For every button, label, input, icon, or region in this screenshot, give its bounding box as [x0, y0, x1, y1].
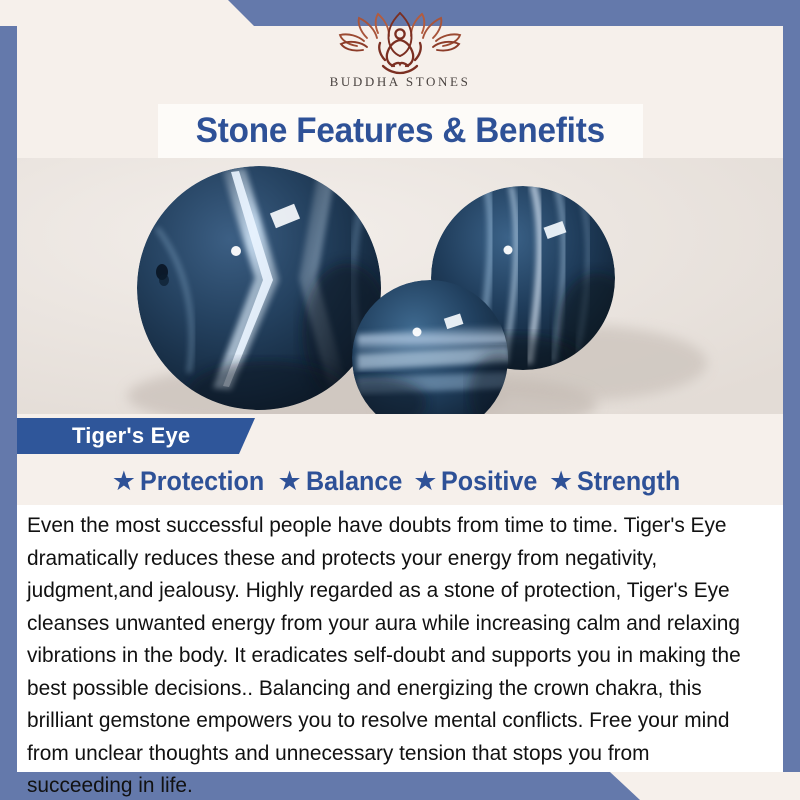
infographic-page: BUDDHA STONES Stone Features & Benefits: [0, 0, 800, 800]
frame-right-band: [783, 0, 800, 800]
benefits-row: ★ Protection ★ Balance ★ Positive ★ Stre…: [17, 462, 783, 500]
star-icon: ★: [277, 468, 301, 495]
benefit-label: Positive: [441, 466, 537, 497]
hero-image: [17, 158, 783, 414]
description-panel: Even the most successful people have dou…: [17, 505, 783, 772]
benefit-item-strength: ★ Strength: [549, 466, 688, 497]
benefit-item-positive: ★ Positive: [413, 466, 545, 497]
brand-header: BUDDHA STONES: [0, 0, 800, 104]
benefit-label: Strength: [577, 466, 680, 497]
page-title-band: Stone Features & Benefits: [158, 104, 643, 158]
benefit-label: Protection: [140, 466, 264, 497]
page-title: Stone Features & Benefits: [196, 111, 605, 151]
frame-bottom-right-notch: [783, 772, 800, 800]
stone-name-badge: Tiger's Eye: [17, 418, 255, 454]
benefit-item-balance: ★ Balance: [277, 466, 409, 497]
star-icon: ★: [549, 468, 573, 495]
benefit-label: Balance: [306, 466, 402, 497]
stone-name-label: Tiger's Eye: [17, 423, 190, 449]
star-icon: ★: [413, 468, 437, 495]
star-icon: ★: [112, 468, 136, 495]
description-text: Even the most successful people have dou…: [27, 509, 745, 800]
benefit-item-protection: ★ Protection: [112, 466, 274, 497]
brand-name: BUDDHA STONES: [330, 74, 471, 90]
lotus-meditation-icon: [337, 10, 463, 76]
frame-left-band: [0, 0, 17, 800]
